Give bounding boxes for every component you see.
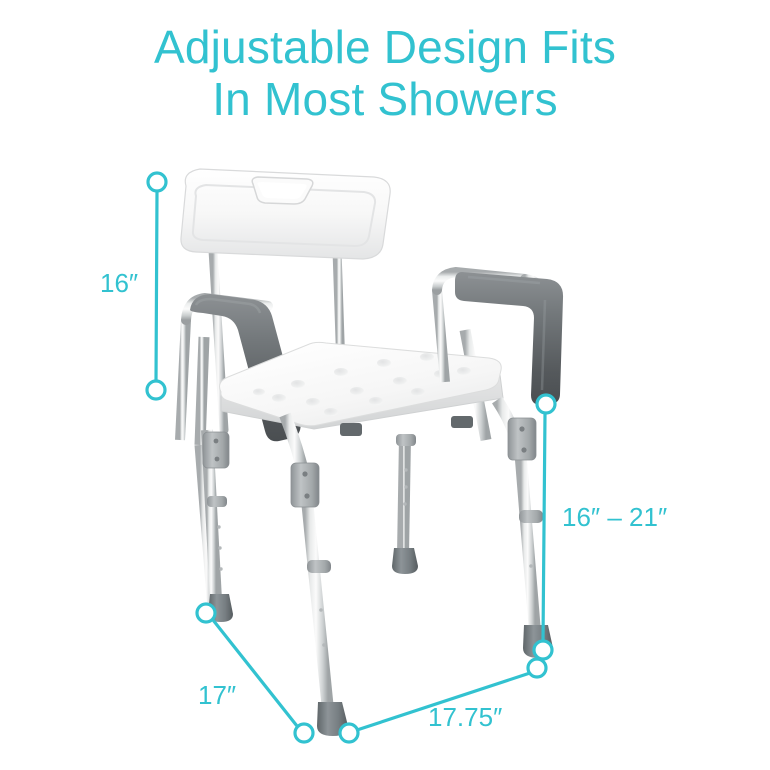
- infographic-canvas: Adjustable Design Fits In Most Showers: [0, 0, 770, 770]
- dimension-label-backrest-height: 16″: [100, 268, 138, 299]
- product-image-shower-chair: [0, 0, 770, 770]
- leg-front-left: [285, 415, 348, 736]
- dimension-label-seat-width: 17.75″: [428, 702, 502, 733]
- leg-back-right: [392, 434, 418, 574]
- dimension-label-seat-depth: 17″: [198, 680, 236, 711]
- dimension-label-seat-height: 16″ – 21″: [562, 502, 667, 533]
- leg-front-right: [497, 400, 553, 658]
